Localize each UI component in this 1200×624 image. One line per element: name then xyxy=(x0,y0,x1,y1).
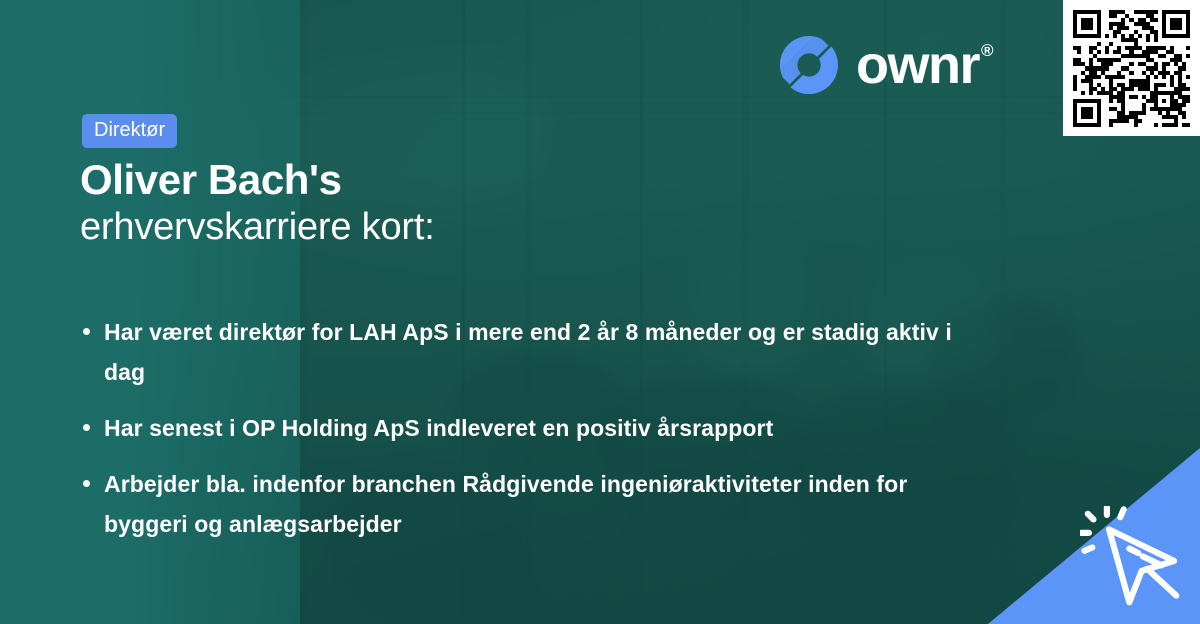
career-highlights-list: Har været direktør for LAH ApS i mere en… xyxy=(78,312,958,544)
bullet-dot-icon xyxy=(83,424,90,431)
headline-line-2: erhvervskarriere kort: xyxy=(80,205,980,251)
click-cursor-icon xyxy=(1080,506,1192,618)
ownr-wordmark: ownr ® xyxy=(856,38,992,92)
list-item-text: Arbejder bla. indenfor branchen Rådgiven… xyxy=(104,471,907,537)
corner-graphic xyxy=(988,448,1200,624)
role-badge-label: Direktør xyxy=(94,119,165,141)
bullet-dot-icon xyxy=(83,480,90,487)
list-item: Har senest i OP Holding ApS indleveret e… xyxy=(78,408,958,448)
ownr-logo[interactable]: ownr ® xyxy=(778,34,992,96)
qr-code-matrix xyxy=(1073,10,1190,127)
registered-mark: ® xyxy=(981,42,992,59)
list-item: Arbejder bla. indenfor branchen Rådgiven… xyxy=(78,464,958,544)
ownr-logo-mark-icon xyxy=(778,34,840,96)
role-badge: Direktør xyxy=(82,114,177,148)
list-item: Har været direktør for LAH ApS i mere en… xyxy=(78,312,958,392)
list-item-text: Har senest i OP Holding ApS indleveret e… xyxy=(104,415,773,441)
headline-line-1: Oliver Bach's xyxy=(80,156,980,203)
ownr-wordmark-text: ownr xyxy=(856,38,979,92)
qr-code[interactable] xyxy=(1063,0,1200,136)
career-card: ownr ® Direktør Oliver Bach's erhvervska… xyxy=(0,0,1200,624)
page-title: Oliver Bach's erhvervskarriere kort: xyxy=(80,156,980,251)
list-item-text: Har været direktør for LAH ApS i mere en… xyxy=(104,319,952,385)
bullet-dot-icon xyxy=(83,328,90,335)
